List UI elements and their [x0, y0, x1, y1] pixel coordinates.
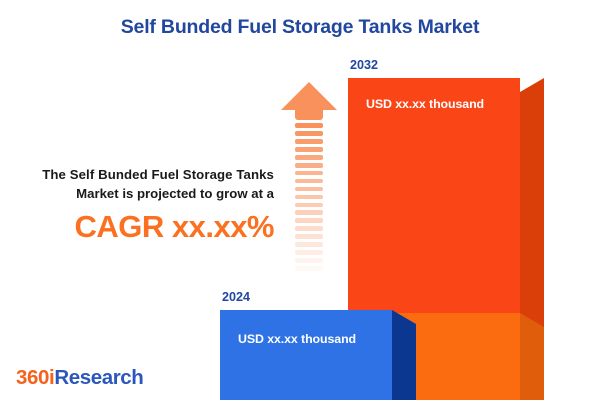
- arrow-stripe: [295, 195, 323, 200]
- bar-2032-year-label: 2032: [350, 58, 378, 72]
- arrow-stripe: [295, 139, 323, 144]
- arrow-stripe: [295, 171, 323, 176]
- logo-text-research: Research: [54, 366, 143, 389]
- bar-2032-side-face-lower: [520, 313, 544, 400]
- arrow-stripe: [295, 163, 323, 168]
- arrow-head-icon: [281, 82, 337, 110]
- annotation-line-2: Market is projected to grow at a: [6, 184, 274, 203]
- arrow-stripe: [295, 187, 323, 192]
- page-title: Self Bunded Fuel Storage Tanks Market: [0, 16, 600, 39]
- arrow-stripe: [295, 250, 323, 255]
- arrow-stripe: [295, 179, 323, 184]
- arrow-stripe: [295, 123, 323, 128]
- bar-2024-year-label: 2024: [222, 290, 250, 304]
- arrow-stripe: [295, 131, 323, 136]
- arrow-stripe: [295, 242, 323, 247]
- arrow-stripe: [295, 218, 323, 223]
- growth-arrow-icon: [281, 82, 337, 290]
- bar-2024-side-face: [392, 310, 416, 400]
- bar-2024: 2024 USD xx.xx thousand: [220, 310, 416, 400]
- arrow-stripe: [295, 266, 323, 271]
- arrow-stripe: [295, 234, 323, 239]
- arrow-neck: [295, 110, 323, 120]
- arrow-stripe: [295, 203, 323, 208]
- brand-logo: 360iResearch: [16, 366, 143, 390]
- arrow-stripe: [295, 282, 323, 287]
- market-infographic: Self Bunded Fuel Storage Tanks Market Th…: [0, 0, 600, 400]
- bar-2032-value-label: USD xx.xx thousand: [366, 97, 484, 111]
- arrow-stripes: [295, 123, 323, 290]
- bar-2024-front-face: [220, 310, 392, 400]
- cagr-annotation: The Self Bunded Fuel Storage Tanks Marke…: [6, 165, 274, 245]
- arrow-stripe: [295, 226, 323, 231]
- arrow-stripe: [295, 210, 323, 215]
- logo-text-360: 360: [16, 366, 49, 389]
- arrow-stripe: [295, 258, 323, 263]
- bar-2024-value-label: USD xx.xx thousand: [238, 332, 356, 346]
- annotation-line-1: The Self Bunded Fuel Storage Tanks: [6, 165, 274, 184]
- arrow-stripe: [295, 147, 323, 152]
- arrow-stripe: [295, 155, 323, 160]
- cagr-value: CAGR xx.xx%: [6, 209, 274, 245]
- arrow-stripe: [295, 274, 323, 279]
